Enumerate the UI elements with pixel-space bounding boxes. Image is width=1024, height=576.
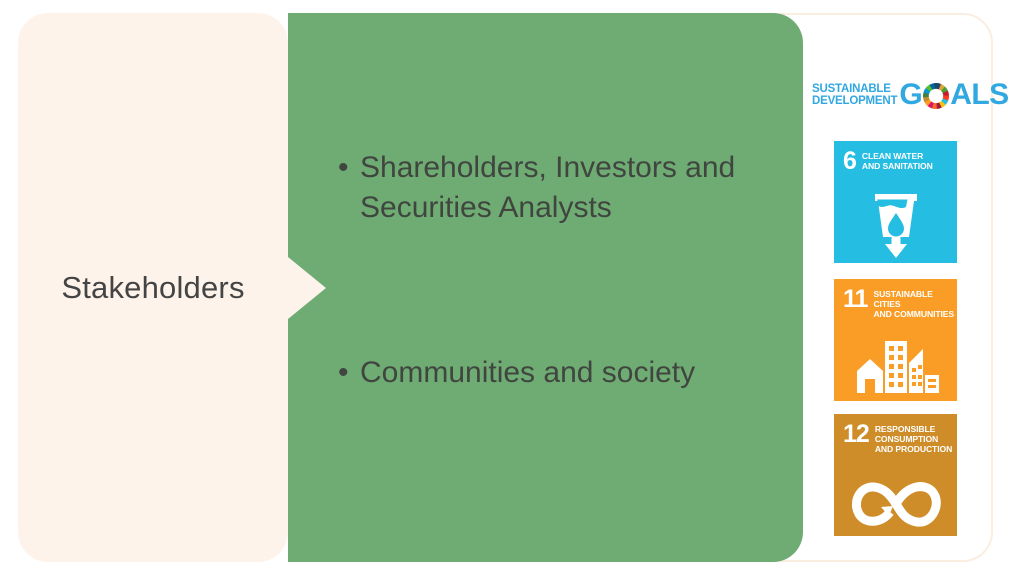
sdg-logo-als: ALS [950,80,1009,110]
sdg-goal-tile-12: 12 RESPONSIBLE CONSUMPTION AND PRODUCTIO… [834,414,957,536]
sdg-goal-header: 6 CLEAN WATER AND SANITATION [834,141,957,172]
stakeholders-label-panel: Stakeholders [18,13,288,562]
sdg-goal-title: CLEAN WATER AND SANITATION [862,150,933,171]
sdg-goal-tile-6: 6 CLEAN WATER AND SANITATION [834,141,957,263]
page-title: Stakeholders [61,270,244,306]
sdg-logo-wordmark-lines: SUSTAINABLE DEVELOPMENT [812,83,899,108]
list-item: • Shareholders, Investors and Securities… [338,148,778,227]
sdg-color-wheel-icon [923,83,949,109]
sdg-goal-tile-11: 11 SUSTAINABLE CITIES AND COMMUNITIES [834,279,957,401]
bullet-marker-icon: • [338,353,360,393]
stakeholder-list: • Shareholders, Investors and Securities… [338,148,778,393]
sdg-logo-g: G [899,80,922,110]
sdg-logo-line-1: SUSTAINABLE [812,83,897,95]
list-item-label: Shareholders, Investors and Securities A… [360,148,778,227]
sdg-goal-number: 6 [843,150,856,172]
sdg-goal-title: SUSTAINABLE CITIES AND COMMUNITIES [873,288,957,320]
sdg-goal-header: 12 RESPONSIBLE CONSUMPTION AND PRODUCTIO… [834,414,957,455]
city-buildings-icon [834,335,957,395]
water-glass-droplet-icon [834,195,957,257]
list-item-label: Communities and society [360,353,778,393]
sdg-goal-title: RESPONSIBLE CONSUMPTION AND PRODUCTION [875,423,952,455]
slide-canvas: Stakeholders • Shareholders, Investors a… [0,0,1024,576]
list-item: • Communities and society [338,353,778,393]
sdg-goal-number: 12 [843,423,869,445]
bullet-marker-icon: • [338,148,360,188]
infinity-loop-arrow-icon [834,476,957,532]
sdg-logo-line-2: DEVELOPMENT [812,95,897,107]
sdg-logo-goals-wordmark: G [899,80,1008,110]
sustainable-development-goals-logo: SUSTAINABLE DEVELOPMENT G [812,79,1009,111]
sdg-goal-header: 11 SUSTAINABLE CITIES AND COMMUNITIES [834,279,957,320]
sdg-goal-number: 11 [843,288,867,310]
